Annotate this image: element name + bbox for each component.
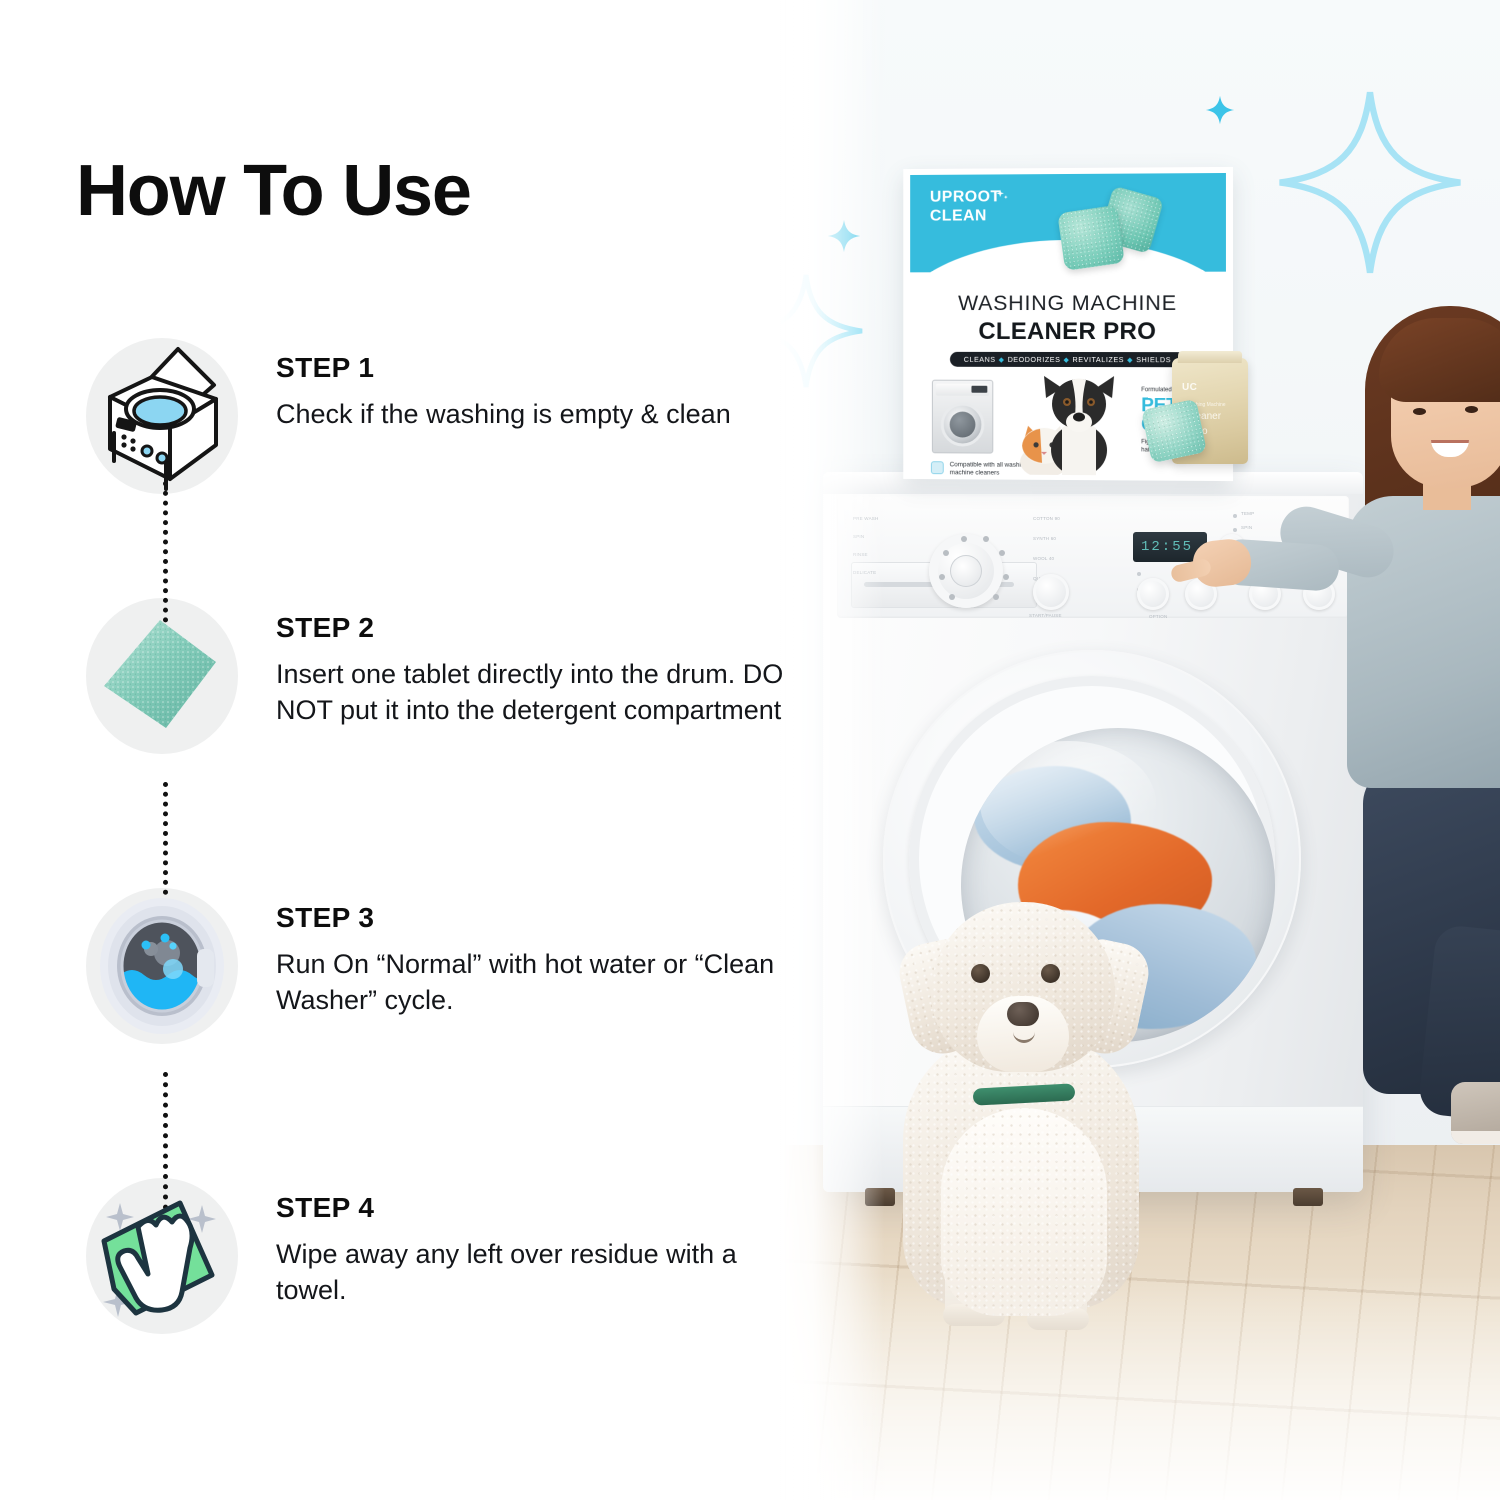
- sparkle-small-icon: [1205, 95, 1235, 125]
- person-demonstrating: [1255, 290, 1500, 1220]
- brand-line-2: CLEAN: [930, 207, 1001, 226]
- washer-display-value: 12:55: [1141, 539, 1193, 555]
- step-item: STEP 2 Insert one tablet directly into t…: [76, 590, 806, 880]
- dog-eye: [971, 964, 990, 983]
- benefits-pill: CLEANS◆DEODORIZES◆REVITALIZES◆SHIELDS: [950, 352, 1185, 367]
- benefit-cleans: CLEANS: [964, 355, 996, 364]
- step-2-icon-wrap: [76, 590, 248, 762]
- step-4-title: STEP 4: [276, 1192, 806, 1224]
- step-4-description: Wipe away any left over residue with a t…: [276, 1236, 806, 1309]
- steps-list: STEP 1 Check if the washing is empty & c…: [76, 330, 806, 1400]
- start-pause-button[interactable]: [1033, 574, 1069, 610]
- step-2-title: STEP 2: [276, 612, 806, 644]
- pouch-brand: UC: [1182, 382, 1197, 393]
- box-title-line-1: WASHING MACHINE: [910, 291, 1226, 316]
- box-pets-image: [1014, 370, 1144, 476]
- brand-sparkle-icon: [995, 188, 1010, 208]
- brand-name: UPROOT CLEAN: [930, 188, 1001, 226]
- dog-illustration: [1040, 372, 1118, 476]
- page-title: How To Use: [76, 150, 471, 232]
- shoe: [1451, 1082, 1500, 1144]
- instructions-column: How To Use: [0, 0, 820, 1500]
- step-4-icon-wrap: [76, 1170, 248, 1342]
- brand-line-1: UPROOT: [930, 188, 1001, 207]
- step-1-title: STEP 1: [276, 352, 806, 384]
- dog-eye: [1041, 964, 1060, 983]
- step-3-title: STEP 3: [276, 902, 806, 934]
- step-2-description: Insert one tablet directly into the drum…: [276, 656, 806, 729]
- benefit-deodorizes: DEODORIZES: [1008, 355, 1061, 364]
- compatible-icon: [931, 461, 944, 474]
- dog-nose: [1007, 1002, 1039, 1026]
- infographic-page: PRE WASH SPIN RINSE DELICATE COTTON 90 S…: [0, 0, 1500, 1500]
- glass-reflection: [980, 741, 1156, 867]
- step-3-description: Run On “Normal” with hot water or “Clean…: [276, 946, 806, 1019]
- step-1-icon-wrap: [76, 330, 248, 502]
- step-3-icon-wrap: [76, 880, 248, 1052]
- step-item: STEP 4 Wipe away any left over residue w…: [76, 1170, 806, 1400]
- product-photo-scene: PRE WASH SPIN RINSE DELICATE COTTON 90 S…: [735, 0, 1500, 1500]
- cleaner-tablet-icon: [92, 606, 232, 746]
- benefit-revitalizes: REVITALIZES: [1073, 355, 1125, 364]
- program-dial[interactable]: [929, 534, 1003, 608]
- step-1-text: STEP 1 Check if the washing is empty & c…: [276, 352, 806, 432]
- step-2-text: STEP 2 Insert one tablet directly into t…: [276, 612, 806, 729]
- box-tablet-front: [1057, 205, 1125, 271]
- hand-wiping-cloth-icon: [92, 1183, 232, 1329]
- step-3-text: STEP 3 Run On “Normal” with hot water or…: [276, 902, 806, 1019]
- top-load-washer-open-icon: [92, 341, 232, 491]
- step-1-description: Check if the washing is empty & clean: [276, 396, 806, 432]
- loose-cleaner-tablet: [1141, 399, 1207, 463]
- step-item: STEP 1 Check if the washing is empty & c…: [76, 330, 806, 590]
- white-dog: [865, 880, 1195, 1330]
- washer-door-water-icon: [89, 891, 235, 1041]
- step-item: STEP 3 Run On “Normal” with hot water or…: [76, 880, 806, 1170]
- benefit-shields: SHIELDS: [1136, 355, 1171, 364]
- box-washer-image: [932, 380, 993, 454]
- option-button-1[interactable]: [1137, 578, 1169, 610]
- step-4-text: STEP 4 Wipe away any left over residue w…: [276, 1192, 806, 1309]
- box-title-line-2: CLEANER PRO: [910, 318, 1226, 346]
- sparkle-large-outline-icon: [1275, 85, 1465, 280]
